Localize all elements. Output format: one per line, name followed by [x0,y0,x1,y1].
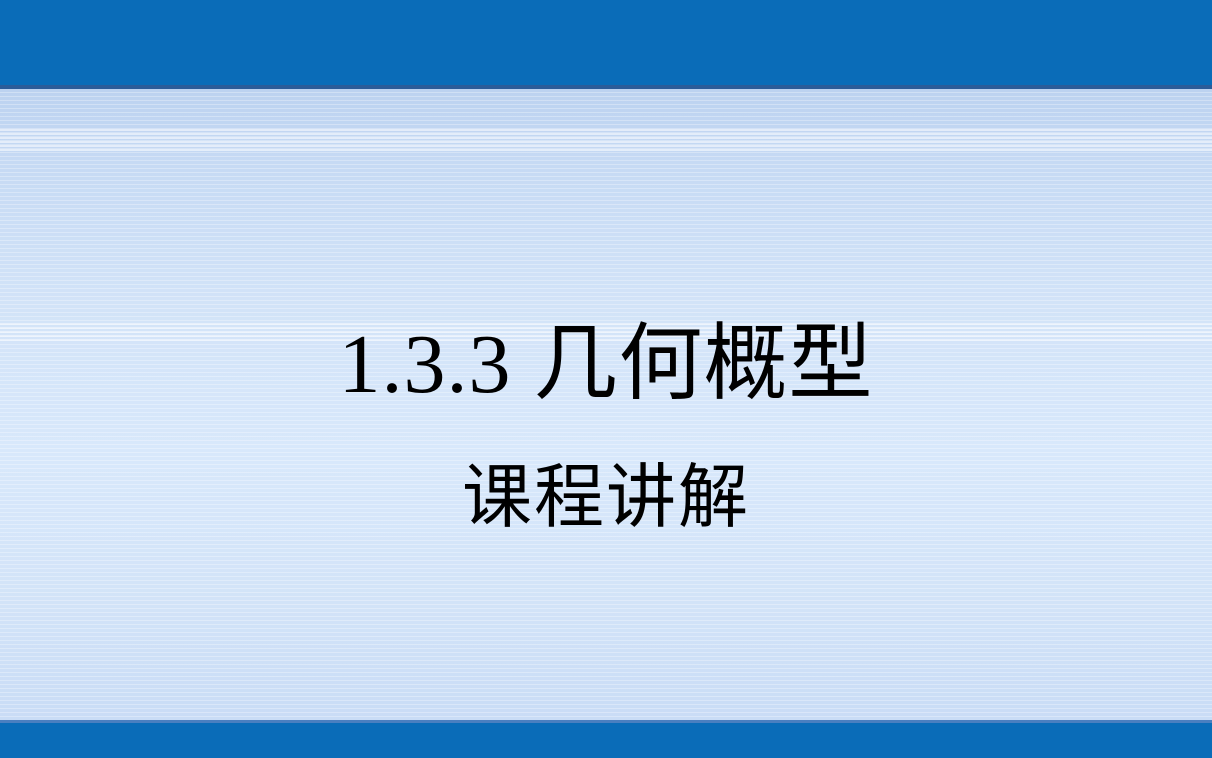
slide-texture-band-upper [0,127,1212,153]
presentation-slide: 1.3.3 几何概型 课程讲解 欢迎大家在评论区提问交流 [0,89,1212,720]
slide-main-title: 1.3.3 几何概型 [0,321,1212,409]
letterbox-bottom-bar [0,723,1212,758]
letterbox-top-bar [0,0,1212,85]
slide-subtitle: 课程讲解 [0,462,1212,536]
video-frame: 1.3.3 几何概型 课程讲解 欢迎大家在评论区提问交流 [0,0,1212,758]
